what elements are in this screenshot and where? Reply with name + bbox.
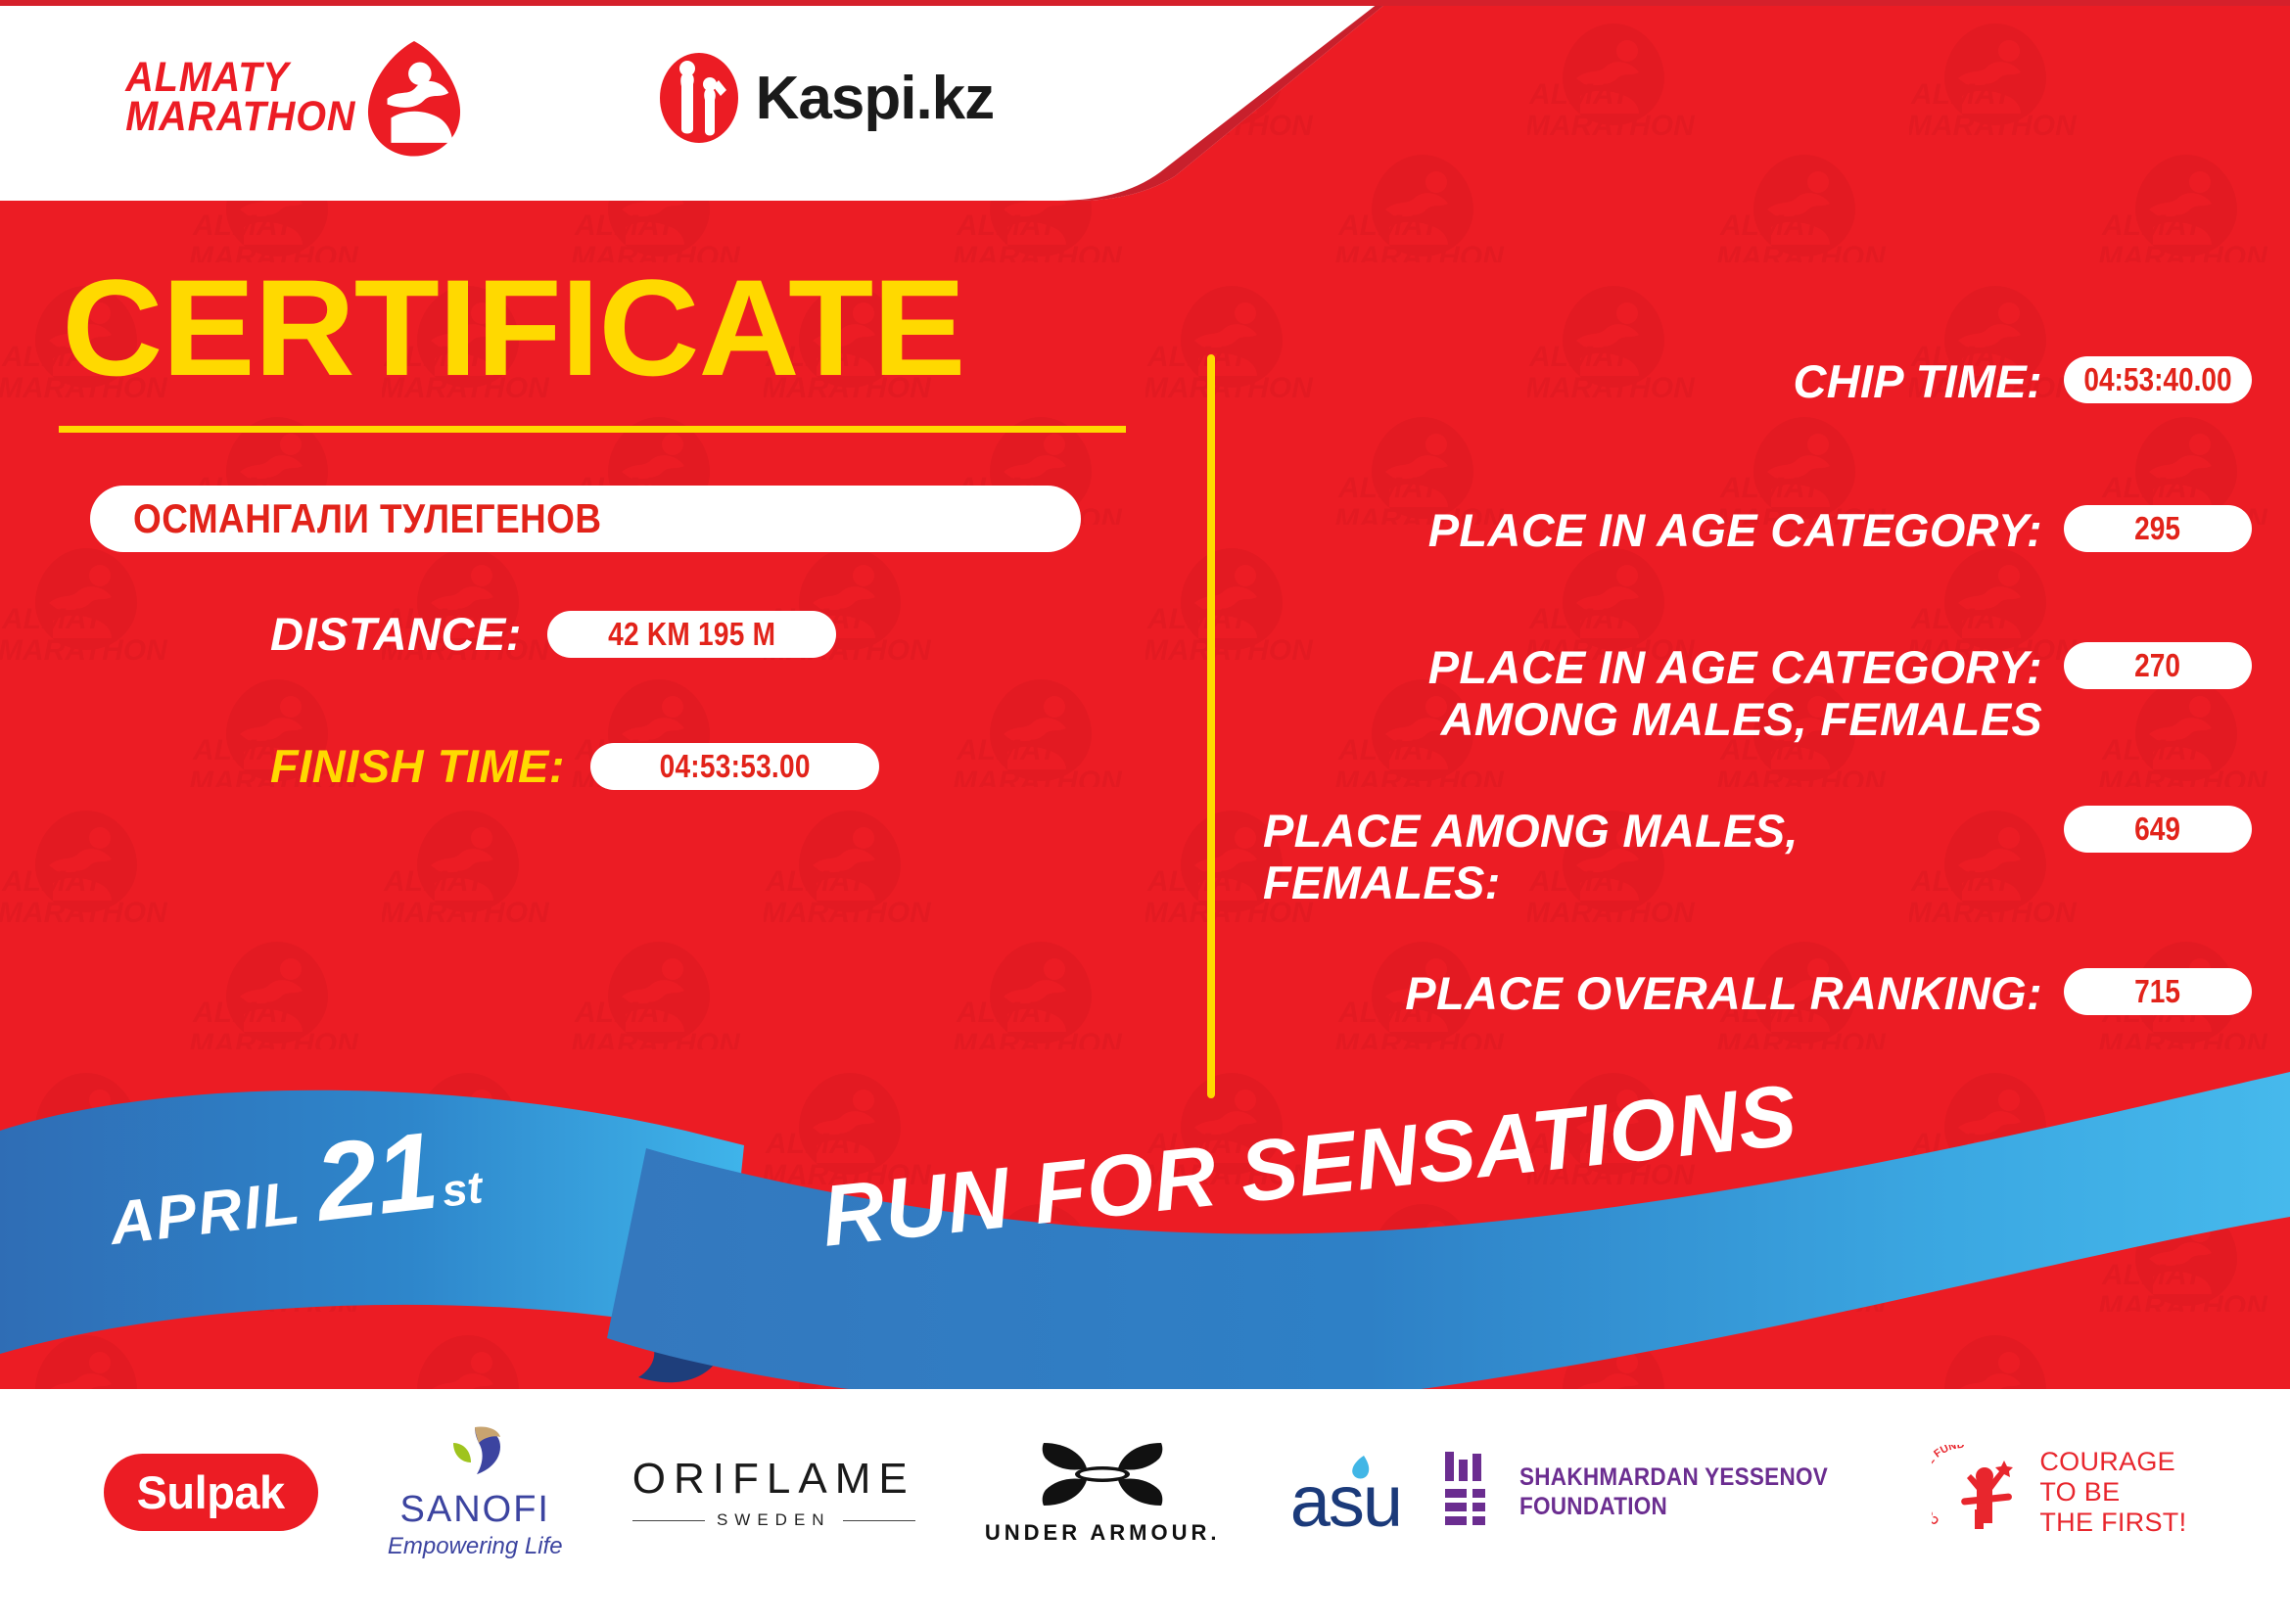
place-age-category-label: PLACE IN AGE CATEGORY: [1263,501,2064,557]
under-armour-icon [1038,1439,1167,1514]
finish-time-row: FINISH TIME: 04:53:53.00 [270,739,1194,793]
place-age-category-mf-value: 270 [2135,647,2181,684]
place-among-males-females-label: PLACE AMONG MALES, FEMALES: [1263,802,2064,908]
sponsor-shakhmardan-yessenov-foundation[interactable]: SHAKHMARDAN YESSENOV FOUNDATION [1441,1450,1862,1535]
distance-row: DISTANCE: 42 KM 195 M [270,607,1194,661]
sanofi-mark-icon [440,1425,510,1487]
place-age-category-mf-label-line2: AMONG MALES, FEMALES [1263,694,2042,746]
yessenov-foundation-line1: SHAKHMARDAN YESSENOV [1519,1463,1828,1493]
runner-droplet-icon [366,39,462,157]
courage-fund-line1: COURAGE [2039,1447,2186,1477]
top-accent-rule [0,0,2290,6]
almaty-marathon-logo-line1: ALMATY [125,59,355,98]
place-age-category-mf-value-pill: 270 [2064,642,2252,689]
place-age-category-value: 295 [2135,510,2181,547]
sulpak-logo-text: Sulpak [137,1466,285,1518]
finish-time-label: FINISH TIME: [270,739,565,793]
event-date-suffix: st [440,1160,486,1217]
under-armour-logo-text: UNDER ARMOUR. [985,1520,1221,1546]
oriflame-rule-left [632,1520,705,1521]
oriflame-rule-right [843,1520,915,1521]
finish-time-value-pill: 04:53:53.00 [590,743,879,790]
almaty-marathon-logo-line2: MARATHON [125,98,355,137]
svg-text:CORPORATE FUND: CORPORATE FUND [1932,1445,1965,1527]
sponsor-under-armour[interactable]: UNDER ARMOUR. [985,1439,1221,1546]
oriflame-tagline-row: SWEDEN [632,1510,915,1530]
oriflame-tagline: SWEDEN [717,1510,831,1530]
distance-value: 42 KM 195 M [608,616,775,653]
kaspi-figures-icon [658,51,740,145]
sponsor-asu[interactable]: asu [1290,1455,1372,1530]
kaspi-logo-text: Kaspi.kz [756,64,995,133]
sanofi-logo-text: SANOFI [400,1489,550,1531]
courage-fund-line2: TO BE [2039,1477,2186,1508]
results-right-column: CHIP TIME: 04:53:40.00 PLACE IN AGE CATE… [1263,352,2252,1076]
finish-time-value: 04:53:53.00 [660,748,811,785]
place-overall-ranking-row: PLACE OVERALL RANKING: 715 [1263,964,2252,1046]
place-age-category-value-pill: 295 [2064,505,2252,552]
place-age-category-mf-label: PLACE IN AGE CATEGORY: AMONG MALES, FEMA… [1263,638,2064,745]
distance-label: DISTANCE: [270,607,522,661]
place-overall-ranking-value: 715 [2135,973,2181,1010]
place-overall-ranking-value-pill: 715 [2064,968,2252,1015]
page-title: CERTIFICATE [0,201,1218,396]
chip-time-value-pill: 04:53:40.00 [2064,356,2252,403]
participant-name-field: ОСМАНГАЛИ ТУЛЕГЕНОВ [90,486,1081,552]
chip-time-row: CHIP TIME: 04:53:40.00 [1263,352,2252,435]
sponsor-courage-to-be-the-first[interactable]: CORPORATE FUND COURAGE TO BE THE FIRST! [1932,1445,2186,1540]
place-age-category-row: PLACE IN AGE CATEGORY: 295 [1263,501,2252,583]
place-among-males-females-label-line1: PLACE AMONG MALES, [1263,806,2042,858]
event-date-month: APRIL [107,1168,305,1259]
sponsor-sanofi[interactable]: SANOFI Empowering Life [388,1425,563,1560]
yessenov-foundation-line2: FOUNDATION [1519,1493,1828,1522]
yessenov-foundation-text: SHAKHMARDAN YESSENOV FOUNDATION [1519,1463,1862,1521]
almaty-marathon-logo[interactable]: ALMATY MARATHON [116,39,462,157]
kaspi-logo[interactable]: Kaspi.kz [658,51,995,145]
courage-fund-text: COURAGE TO BE THE FIRST! [2039,1447,2186,1538]
sulpak-logo: Sulpak [104,1454,318,1531]
participant-name-value: ОСМАНГАЛИ ТУЛЕГЕНОВ [133,495,602,542]
chip-time-label: CHIP TIME: [1263,352,2064,408]
distance-value-pill: 42 KM 195 M [547,611,836,658]
asu-droplet-icon [1350,1455,1372,1487]
place-among-males-females-label-line2: FEMALES: [1263,858,2042,909]
event-date-day: 21 [309,1107,443,1246]
courage-fund-line3: THE FIRST! [2039,1508,2186,1538]
sponsor-sulpak[interactable]: Sulpak [104,1454,318,1531]
column-divider [1207,354,1215,1098]
sponsor-oriflame[interactable]: ORIFLAME SWEDEN [632,1455,915,1530]
courage-fund-figure-icon: CORPORATE FUND [1932,1445,2030,1540]
chip-time-value: 04:53:40.00 [2083,361,2231,398]
oriflame-logo-text: ORIFLAME [632,1455,915,1504]
place-among-males-females-value-pill: 649 [2064,806,2252,853]
place-overall-ranking-label: PLACE OVERALL RANKING: [1263,964,2064,1020]
place-age-category-mf-row: PLACE IN AGE CATEGORY: AMONG MALES, FEMA… [1263,638,2252,745]
sanofi-tagline: Empowering Life [388,1533,563,1560]
certificate-left-column: CERTIFICATE ОСМАНГАЛИ ТУЛЕГЕНОВ DISTANCE… [0,201,1194,793]
place-among-males-females-row: PLACE AMONG MALES, FEMALES: 649 [1263,802,2252,908]
place-among-males-females-value: 649 [2135,811,2181,848]
header-logo-row: ALMATY MARATHON Kaspi.kz [0,0,1175,196]
sponsor-footer: Sulpak SANOFI Empowering Life ORIFLAME S… [0,1389,2290,1619]
asu-logo-text: asu [1290,1472,1401,1530]
yessenov-foundation-bars-icon [1441,1450,1498,1535]
title-underline-rule [59,426,1126,433]
place-age-category-mf-label-line1: PLACE IN AGE CATEGORY: [1263,642,2042,694]
